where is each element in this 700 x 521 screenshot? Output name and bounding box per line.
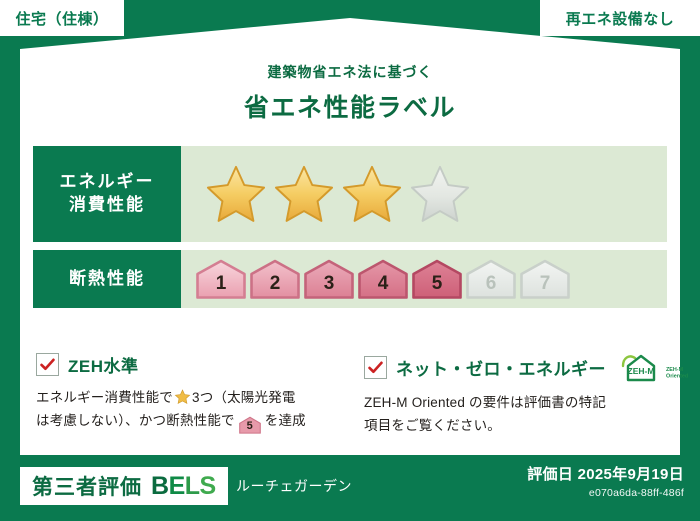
grade-badge-filled: 5 [411, 258, 463, 300]
rating-rows: エネルギー 消費性能 断熱性能 1234567 [33, 146, 667, 316]
star-icon-filled [273, 164, 335, 224]
grade-badge-value: 2 [270, 273, 281, 300]
bels-letter: E [169, 472, 185, 500]
svg-text:ZEH-M: ZEH-M [628, 366, 655, 376]
check-net-zero-header: ネット・ゼロ・エネルギー ZEH-M ZEH-M Oriented [364, 352, 666, 382]
grade-badge-value: 5 [432, 273, 443, 300]
bels-letter: S [200, 472, 216, 500]
check-zeh-standard-body: エネルギー消費性能で3つ（太陽光発電 は考慮しない）、かつ断熱性能で5を達成 [36, 386, 338, 434]
grade-badge-filled: 4 [357, 258, 409, 300]
grade-badge-value: 1 [216, 273, 227, 300]
row-energy-label: エネルギー 消費性能 [33, 146, 181, 242]
title-main: 省エネ性能ラベル [0, 88, 700, 124]
star-icon-empty [409, 164, 471, 224]
grade-badge-value: 3 [324, 273, 335, 300]
check-icon [364, 356, 387, 379]
row-energy-label-line2: 消費性能 [69, 194, 145, 217]
zeh-body-text-2: 3つ（太陽光発電 [192, 390, 296, 405]
footer-meta: 評価日 2025年9月19日 e070a6da-88ff-486f [527, 463, 684, 499]
footer-evaluation-date: 評価日 2025年9月19日 [527, 463, 684, 484]
star-rating [181, 146, 667, 242]
grade-badge-filled: 2 [249, 258, 301, 300]
badge-building-type: 住宅（住棟） [0, 0, 124, 36]
check-zeh-standard: ZEH水準 エネルギー消費性能で3つ（太陽光発電 は考慮しない）、かつ断熱性能で… [36, 352, 338, 437]
check-net-zero-energy: ネット・ゼロ・エネルギー ZEH-M ZEH-M Oriented ZEH-M … [364, 352, 666, 437]
check-zeh-standard-title: ZEH水準 [68, 352, 139, 377]
footer-bels-plate: 第三者評価 BELS [20, 467, 228, 505]
zeh-body-text-1: エネルギー消費性能で [36, 390, 173, 405]
bels-letter: B [151, 472, 169, 500]
row-insulation-label: 断熱性能 [33, 250, 181, 308]
zeh-body-text-4: を達成 [265, 413, 306, 428]
footer-label-id: e070a6da-88ff-486f [527, 487, 684, 499]
star-icon [174, 389, 191, 405]
star-icon-filled [341, 164, 403, 224]
badge-renewable-equipment: 再エネ設備なし [540, 0, 700, 36]
check-sections: ZEH水準 エネルギー消費性能で3つ（太陽光発電 は考慮しない）、かつ断熱性能で… [36, 352, 666, 437]
grade-scale: 1234567 [181, 250, 667, 308]
check-zeh-standard-header: ZEH水準 [36, 352, 338, 377]
grade-badge-empty: 6 [465, 258, 517, 300]
grade-badge-value: 4 [378, 273, 389, 300]
footer: 第三者評価 BELS ルーチェガーデン 評価日 2025年9月19日 e070a… [0, 455, 700, 521]
grade-badge-filled: 1 [195, 258, 247, 300]
page-title: 建築物省エネ法に基づく 省エネ性能ラベル [0, 62, 700, 124]
grade-badge-empty: 7 [519, 258, 571, 300]
row-insulation-label-text: 断熱性能 [69, 268, 145, 291]
bels-logo: BELS [151, 472, 216, 501]
footer-third-party-label: 第三者評価 [32, 471, 142, 501]
net-zero-body-text-1: ZEH-M Oriented の要件は評価書の特記 [364, 395, 606, 410]
grade-badge-value: 6 [486, 273, 497, 300]
check-net-zero-title: ネット・ゼロ・エネルギー [396, 355, 606, 380]
row-insulation-performance: 断熱性能 1234567 [33, 250, 667, 308]
zeh-body-text-3: は考慮しない）、かつ断熱性能で [36, 413, 235, 428]
check-icon [36, 353, 59, 376]
title-subtitle: 建築物省エネ法に基づく [0, 62, 700, 82]
grade-badge-filled: 3 [303, 258, 355, 300]
house-grade-icon: 5 [237, 416, 263, 434]
check-net-zero-body: ZEH-M Oriented の要件は評価書の特記 項目をご覧ください。 [364, 391, 666, 437]
row-energy-label-line1: エネルギー [60, 171, 155, 194]
footer-owner-name: ルーチェガーデン [236, 467, 352, 505]
svg-text:ZEH-M: ZEH-M [666, 367, 684, 373]
zeh-m-house-logo: ZEH-M ZEH-M Oriented [619, 352, 696, 382]
row-energy-performance: エネルギー 消費性能 [33, 146, 667, 242]
bels-letter: L [185, 472, 200, 500]
zeh-m-logo-caption: ZEH-M Oriented [666, 364, 696, 382]
zeh-m-house-shape: ZEH-M [619, 352, 663, 382]
net-zero-body-text-2: 項目をご覧ください。 [364, 418, 501, 433]
zeh-body-grade-value: 5 [237, 416, 263, 437]
svg-text:Oriented: Oriented [666, 374, 688, 380]
star-icon-filled [205, 164, 267, 224]
grade-badge-value: 7 [540, 273, 551, 300]
